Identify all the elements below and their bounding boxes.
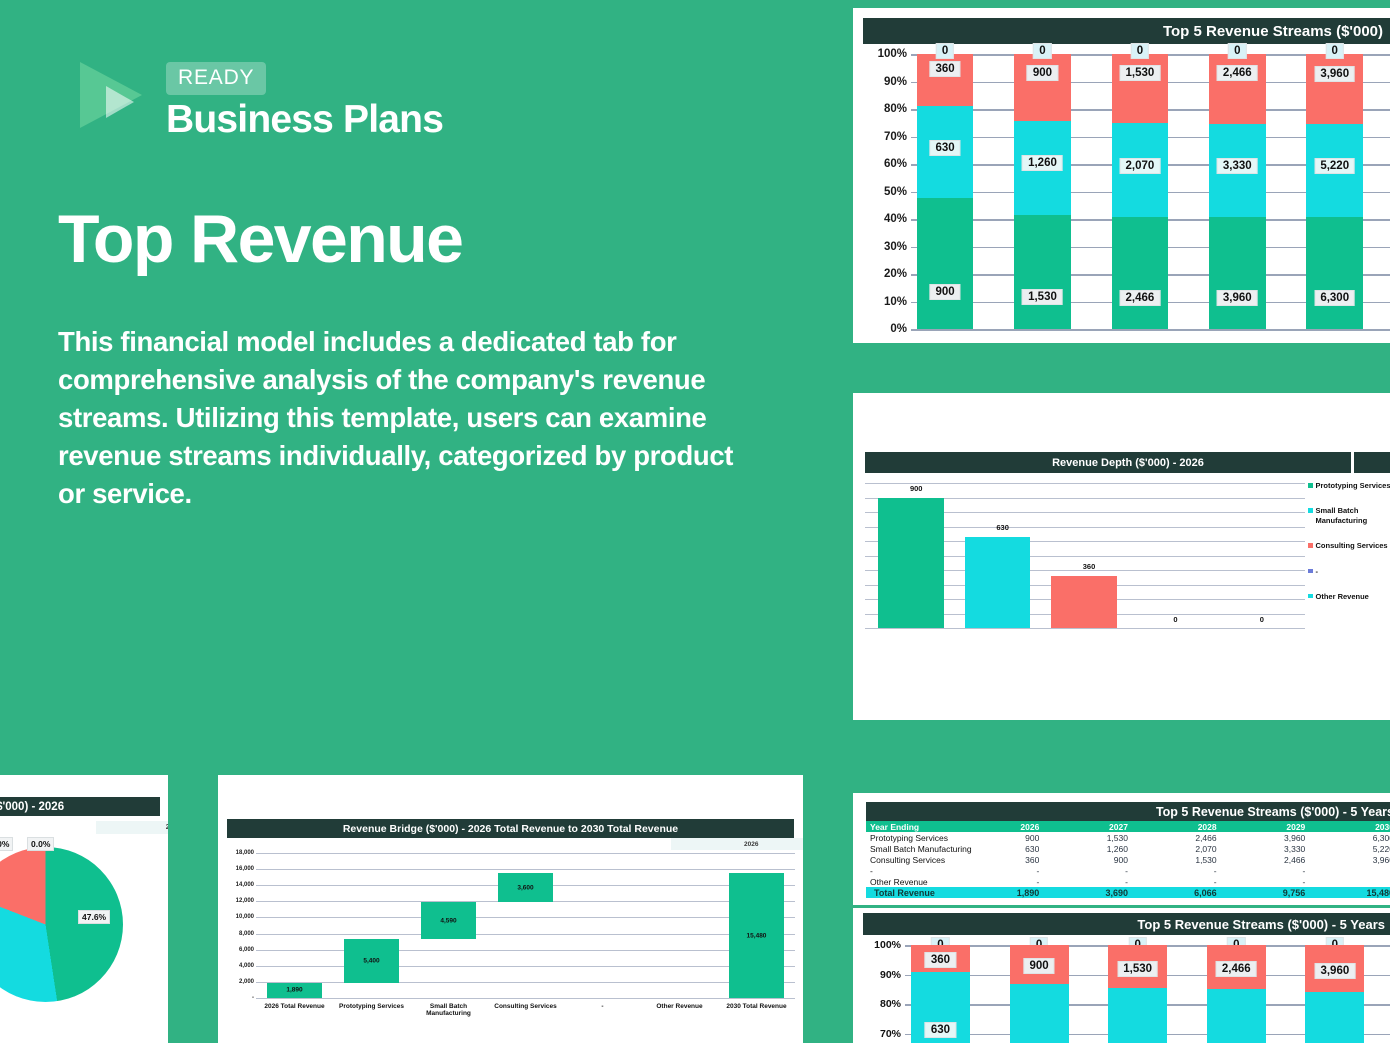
segment-prototyping-services-2029: 3,960: [1209, 217, 1265, 329]
ready-badge: READY: [166, 62, 266, 95]
table-card-top5-5yr: Top 5 Revenue Streams ($'000) - 5 Years …: [853, 793, 1390, 905]
chart-card-revenue-depth: Revenue Depth ($'000) - 2026 90063036000…: [853, 393, 1390, 720]
bridge-y-tick-8: 2,000: [239, 979, 254, 985]
st-y-tick-80pct: 80%: [880, 998, 901, 1010]
depth-slot-4: 0: [1219, 483, 1305, 628]
y-tick-0pct: 0%: [890, 323, 907, 335]
table-title-top5-5yr: Top 5 Revenue Streams ($'000) - 5 Years: [866, 802, 1390, 821]
y-axis-revenue-bridge: 18,00016,00014,00012,00010,0008,0006,000…: [226, 853, 256, 998]
table-cell-2-2: 1,530: [1132, 854, 1221, 865]
segment-prototyping-services-2027: 1,530: [1014, 215, 1070, 329]
bridge-x-label-4: -: [564, 1003, 641, 1017]
table-cell-1-2: 2,070: [1132, 843, 1221, 854]
legend-label-2: Consulting Services: [1316, 541, 1388, 551]
data-label-consulting-services-2028: 1,530: [1117, 961, 1158, 977]
data-label-consulting-services-2027: 900: [1023, 958, 1054, 974]
bridge-y-tick-6: 6,000: [239, 947, 254, 953]
table-total-4: 15,480: [1309, 887, 1390, 898]
data-label-consulting-services-2026: 360: [929, 61, 960, 77]
legend-swatch-2: [1308, 543, 1313, 548]
play-triangle-logo-icon: [72, 56, 150, 134]
st-y-tick-90pct: 90%: [880, 969, 901, 981]
y-axis-top5-stacked-5yr: 100%90%80%70%: [863, 941, 905, 1043]
segment-small-batch-manufacturing-2027: [1010, 984, 1069, 1043]
bridge-bar-2030-total-revenue: 15,480: [729, 873, 784, 998]
legend-revenue-depth: Prototyping ServicesSmall Batch Manufact…: [1308, 481, 1390, 617]
brand-lockup: READY Business Plans: [72, 56, 443, 141]
depth-value-3: 0: [1173, 615, 1177, 624]
table-total-3: 9,756: [1221, 887, 1310, 898]
y-axis-top5-stacked-pct: 100%90%80%70%60%50%40%30%20%10%0%: [863, 54, 911, 329]
pie-label-prototyping: 47.6%: [78, 910, 110, 924]
bar-slot-2029: 3,9603,3302,4660: [1203, 54, 1300, 329]
st-column-2028: 01,530: [1108, 941, 1167, 1043]
table-total-1: 3,690: [1043, 887, 1132, 898]
y-tick-70pct: 70%: [884, 131, 907, 143]
data-label-consulting-services-2027: 900: [1027, 65, 1058, 81]
data-label-consulting-services-2030: 3,960: [1314, 66, 1355, 82]
legend-item-1: Small Batch Manufacturing: [1308, 506, 1390, 526]
depth-bar-small-batch-manufacturing: [965, 537, 1031, 628]
table-cell-label-4: Other Revenue: [866, 876, 955, 887]
x-axis-labels-revenue-bridge: 2026 Total RevenuePrototyping ServicesSm…: [256, 1003, 795, 1017]
legend-item-4: Other Revenue: [1308, 592, 1390, 602]
table-col-header-year-ending: Year Ending: [866, 821, 955, 832]
depth-value-4: 0: [1260, 615, 1264, 624]
legend-label-1: Small Batch Manufacturing: [1316, 506, 1390, 526]
bridge-y-tick-1: 16,000: [236, 866, 254, 872]
legend-item-0: Prototyping Services: [1308, 481, 1390, 491]
data-label-other-revenue-2026: 0: [936, 43, 954, 59]
legend-swatch-3: [1308, 569, 1313, 574]
table-cell-0-1: 1,530: [1043, 832, 1132, 843]
y-tick-50pct: 50%: [884, 186, 907, 198]
bridge-y-tick-9: -: [252, 995, 254, 1001]
legend-swatch-1: [1308, 508, 1313, 513]
table-cell-3-3: -: [1221, 865, 1310, 876]
brand-name: Business Plans: [166, 100, 443, 141]
table-row: ------: [866, 865, 1390, 876]
bridge-value-2: 4,590: [440, 917, 456, 924]
depth-bar-consulting-services: [1051, 576, 1117, 628]
bridge-slot-3: 3,600: [487, 853, 564, 998]
bridge-x-label-3: Consulting Services: [487, 1003, 564, 1017]
legend-item-3: -: [1308, 567, 1390, 577]
bridge-x-label-5: Other Revenue: [641, 1003, 718, 1017]
table-row: Other Revenue-----: [866, 876, 1390, 887]
chart-title-top5-stacked-pct: Top 5 Revenue Streams ($'000): [863, 18, 1390, 44]
plot-area-top5-stacked-5yr: 100%90%80%70% 0630360090001,53002,46603,…: [863, 941, 1390, 1043]
bridge-y-tick-4: 10,000: [236, 914, 254, 920]
y-tick-20pct: 20%: [884, 268, 907, 280]
bar-column-2029: 3,9603,3302,4660: [1209, 54, 1265, 329]
bar-column-2028: 2,4662,0701,5300: [1112, 54, 1168, 329]
data-label-consulting-services-2030: 3,960: [1314, 963, 1355, 979]
table-cell-label-3: -: [866, 865, 955, 876]
chart-title-revenue-depth: Revenue Depth ($'000) - 2026: [865, 452, 1390, 473]
bars-top5-stacked-pct: 90063036001,5301,26090002,4662,0701,5300…: [911, 54, 1390, 329]
chart-title-run-rate-pie: Run-Rate ($'000) - 2026: [0, 797, 160, 816]
table-cell-1-4: 5,220: [1309, 843, 1390, 854]
table-cell-label-1: Small Batch Manufacturing: [866, 843, 955, 854]
bar-slot-2026: 9006303600: [911, 54, 1008, 329]
st-slot-2027: 0900: [1004, 941, 1103, 1043]
segment-small-batch-manufacturing-2030: [1305, 992, 1364, 1043]
chart-title-revenue-bridge: Revenue Bridge ($'000) - 2026 Total Reve…: [227, 819, 794, 838]
data-label-prototyping-services-2026: 900: [929, 284, 960, 300]
y-tick-30pct: 30%: [884, 241, 907, 253]
st-y-tick-70pct: 70%: [880, 1028, 901, 1040]
chart-card-top5-stacked-pct: Top 5 Revenue Streams ($'000) 100%90%80%…: [853, 8, 1390, 343]
table-col-header-2026: 2026: [955, 821, 1044, 832]
data-label-consulting-services-2029: 2,466: [1216, 961, 1257, 977]
segment-consulting-services-2029: 2,466: [1209, 54, 1265, 124]
table-cell-3-4: -: [1309, 865, 1390, 876]
segment-consulting-services-2027: 900: [1010, 945, 1069, 984]
chart-card-revenue-bridge: Revenue Bridge ($'000) - 2026 Total Reve…: [218, 775, 803, 1043]
segment-prototyping-services-2030: 6,300: [1306, 217, 1362, 329]
y-tick-100pct: 100%: [878, 48, 907, 60]
st-column-2026: 0630360: [911, 941, 970, 1043]
depth-slot-2: 360: [1046, 483, 1132, 628]
segment-consulting-services-2028: 1,530: [1112, 54, 1168, 123]
pie-disc: [0, 847, 123, 1002]
title-bar-split: [1351, 452, 1390, 473]
y-tick-40pct: 40%: [884, 213, 907, 225]
legend-swatch-4: [1308, 594, 1313, 599]
bar-slot-2028: 2,4662,0701,5300: [1106, 54, 1203, 329]
plot-area-revenue-depth: 90063036000: [865, 483, 1305, 628]
data-label-small-batch-manufacturing-2029: 3,330: [1217, 158, 1258, 174]
data-label-prototyping-services-2027: 1,530: [1022, 289, 1063, 305]
bridge-x-label-2: Small Batch Manufacturing: [410, 1003, 487, 1017]
data-label-consulting-services-2026: 360: [925, 952, 956, 968]
table-cell-label-2: Consulting Services: [866, 854, 955, 865]
pie-label-dash: 0.0%: [0, 837, 13, 851]
table-cell-0-3: 3,960: [1221, 832, 1310, 843]
table-body: Prototyping Services9001,5302,4663,9606,…: [866, 832, 1390, 887]
segment-small-batch-manufacturing-2027: 1,260: [1014, 121, 1070, 215]
table-cell-3-0: -: [955, 865, 1044, 876]
data-label-small-batch-manufacturing-2027: 1,260: [1022, 155, 1063, 171]
table-cell-4-3: -: [1221, 876, 1310, 887]
bridge-year-tabs: 20262030: [671, 838, 803, 850]
table-total-label: Total Revenue: [866, 887, 955, 898]
bar-column-2026: 9006303600: [917, 54, 973, 329]
segment-consulting-services-2030: 3,960: [1305, 945, 1364, 992]
segment-consulting-services-2029: 2,466: [1207, 945, 1266, 989]
table-total-row: Total Revenue1,8903,6906,0669,75615,480: [866, 887, 1390, 898]
table-row: Small Batch Manufacturing6301,2602,0703,…: [866, 843, 1390, 854]
segment-small-batch-manufacturing-2026: 630: [917, 106, 973, 198]
table-row: Consulting Services3609001,5302,4663,960: [866, 854, 1390, 865]
data-label-other-revenue-2027: 0: [1033, 43, 1051, 59]
table-cell-3-1: -: [1043, 865, 1132, 876]
bar-slot-2030: 6,3005,2203,9600: [1301, 54, 1390, 329]
st-column-2030: 03,960: [1305, 941, 1364, 1043]
data-label-prototyping-services-2029: 3,960: [1217, 290, 1258, 306]
segment-consulting-services-2026: 360: [917, 54, 973, 106]
gridline: [911, 329, 1390, 331]
y-tick-60pct: 60%: [884, 158, 907, 170]
gridline: [865, 628, 1305, 629]
segment-prototyping-services-2028: 2,466: [1112, 217, 1168, 329]
table-cell-4-1: -: [1043, 876, 1132, 887]
y-tick-80pct: 80%: [884, 103, 907, 115]
data-label-small-batch-manufacturing-2026: 630: [925, 1022, 956, 1038]
table-cell-4-2: -: [1132, 876, 1221, 887]
st-column-2027: 0900: [1010, 941, 1069, 1043]
table-col-header-2030: 2030: [1309, 821, 1390, 832]
data-label-small-batch-manufacturing-2026: 630: [929, 140, 960, 156]
bridge-y-tick-5: 8,000: [239, 931, 254, 937]
bridge-slot-4: [564, 853, 641, 998]
table-cell-2-3: 2,466: [1221, 854, 1310, 865]
data-label-prototyping-services-2030: 6,300: [1314, 290, 1355, 306]
bridge-year-tab-2026: 2026: [671, 838, 803, 850]
st-slot-2026: 0630360: [905, 941, 1004, 1043]
y-tick-10pct: 10%: [884, 296, 907, 308]
bar-column-2030: 6,3005,2203,9600: [1306, 54, 1362, 329]
table-header-row: Year Ending20262027202820292030: [866, 821, 1390, 832]
bridge-bar-small-batch-manufacturing: 4,590: [421, 902, 476, 939]
depth-value-2: 360: [1083, 562, 1096, 571]
st-slot-2028: 01,530: [1102, 941, 1201, 1043]
depth-bar-prototyping-services: [878, 498, 944, 629]
bridge-value-3: 3,600: [517, 884, 533, 891]
gridline: [256, 998, 795, 999]
legend-item-2: Consulting Services: [1308, 541, 1390, 551]
legend-label-0: Prototyping Services: [1316, 481, 1390, 491]
depth-value-1: 630: [996, 523, 1009, 532]
data-label-consulting-services-2028: 1,530: [1120, 65, 1161, 81]
bridge-x-label-6: 2030 Total Revenue: [718, 1003, 795, 1017]
data-label-small-batch-manufacturing-2030: 5,220: [1314, 158, 1355, 174]
segment-small-batch-manufacturing-2029: 3,330: [1209, 124, 1265, 218]
chart-card-top5-stacked-5yr: Top 5 Revenue Streams ($'000) - 5 Years …: [853, 908, 1390, 1043]
bars-revenue-bridge: 1,8905,4004,5903,60015,480: [256, 853, 795, 998]
segment-small-batch-manufacturing-2028: 2,070: [1112, 123, 1168, 217]
bridge-y-tick-7: 4,000: [239, 963, 254, 969]
hero-panel: READY Business Plans Top Revenue This fi…: [0, 0, 800, 780]
segment-consulting-services-2030: 3,960: [1306, 54, 1362, 124]
segment-small-batch-manufacturing-2026: 630: [911, 972, 970, 1043]
bridge-bar-consulting-services: 3,600: [498, 873, 553, 902]
segment-small-batch-manufacturing-2029: [1207, 989, 1266, 1043]
chart-title-top5-stacked-5yr: Top 5 Revenue Streams ($'000) - 5 Years: [863, 913, 1390, 935]
bridge-y-tick-0: 18,000: [236, 850, 254, 856]
depth-slot-1: 630: [959, 483, 1045, 628]
depth-slot-3: 0: [1132, 483, 1218, 628]
bridge-slot-5: [641, 853, 718, 998]
pie-label-other-revenue: 0.0%: [27, 837, 54, 851]
table-col-header-2028: 2028: [1132, 821, 1221, 832]
table-col-header-2029: 2029: [1221, 821, 1310, 832]
bridge-bar-2026-total-revenue: 1,890: [267, 983, 322, 998]
table-cell-label-0: Prototyping Services: [866, 832, 955, 843]
bars-top5-stacked-5yr: 0630360090001,53002,46603,960: [905, 941, 1390, 1043]
bars-revenue-depth: 90063036000: [873, 483, 1305, 628]
table-cell-0-4: 6,300: [1309, 832, 1390, 843]
pie-year-tab: 2026: [96, 821, 168, 834]
table-col-header-2027: 2027: [1043, 821, 1132, 832]
table-cell-2-1: 900: [1043, 854, 1132, 865]
plot-area-revenue-bridge: 18,00016,00014,00012,00010,0008,0006,000…: [226, 853, 795, 998]
table-cell-4-0: -: [955, 876, 1044, 887]
table-cell-3-2: -: [1132, 865, 1221, 876]
page-title: Top Revenue: [58, 205, 462, 273]
plot-area-top5-stacked-pct: 100%90%80%70%60%50%40%30%20%10%0% 900630…: [863, 54, 1390, 329]
bridge-y-tick-3: 12,000: [236, 898, 254, 904]
bridge-slot-0: 1,890: [256, 853, 333, 998]
table-cell-1-3: 3,330: [1221, 843, 1310, 854]
page-description: This financial model includes a dedicate…: [58, 323, 758, 513]
segment-consulting-services-2027: 900: [1014, 54, 1070, 121]
segment-consulting-services-2026: 360: [911, 945, 970, 972]
bridge-bar-prototyping-services: 5,400: [344, 939, 399, 983]
st-slot-2029: 02,466: [1201, 941, 1300, 1043]
bridge-value-0: 1,890: [286, 987, 302, 994]
bridge-value-6: 15,480: [747, 932, 767, 939]
table-cell-1-1: 1,260: [1043, 843, 1132, 854]
table-cell-0-0: 900: [955, 832, 1044, 843]
bridge-slot-6: 15,480: [718, 853, 795, 998]
chart-title-revenue-depth-text: Revenue Depth ($'000) - 2026: [1052, 457, 1204, 469]
data-label-other-revenue-2030: 0: [1326, 43, 1344, 59]
data-label-other-revenue-2028: 0: [1131, 43, 1149, 59]
legend-swatch-0: [1308, 483, 1313, 488]
plot-area-run-rate-pie: 47.6% 33.3% 19.0% 0.0% 0.0%: [0, 847, 158, 1037]
bridge-value-1: 5,400: [363, 958, 379, 965]
bridge-x-label-1: Prototyping Services: [333, 1003, 410, 1017]
depth-slot-0: 900: [873, 483, 959, 628]
legend-label-3: -: [1316, 567, 1319, 577]
table-cell-2-4: 3,960: [1309, 854, 1390, 865]
bridge-slot-2: 4,590: [410, 853, 487, 998]
segment-consulting-services-2028: 1,530: [1108, 945, 1167, 988]
table-cell-0-2: 2,466: [1132, 832, 1221, 843]
data-label-prototyping-services-2028: 2,466: [1120, 290, 1161, 306]
bridge-slot-1: 5,400: [333, 853, 410, 998]
data-label-consulting-services-2029: 2,466: [1217, 65, 1258, 81]
st-slot-2030: 03,960: [1299, 941, 1390, 1043]
bridge-x-label-0: 2026 Total Revenue: [256, 1003, 333, 1017]
segment-small-batch-manufacturing-2030: 5,220: [1306, 124, 1362, 217]
chart-card-revenue-run-rate-pie: Run-Rate ($'000) - 2026 2026 47.6% 33.3%…: [0, 775, 168, 1043]
table-total-0: 1,890: [955, 887, 1044, 898]
bar-slot-2027: 1,5301,2609000: [1008, 54, 1105, 329]
data-label-small-batch-manufacturing-2028: 2,070: [1120, 158, 1161, 174]
bar-column-2027: 1,5301,2609000: [1014, 54, 1070, 329]
table-cell-2-0: 360: [955, 854, 1044, 865]
depth-value-0: 900: [910, 484, 923, 493]
bridge-y-tick-2: 14,000: [236, 882, 254, 888]
st-column-2029: 02,466: [1207, 941, 1266, 1043]
st-y-tick-100pct: 100%: [874, 939, 901, 951]
y-tick-90pct: 90%: [884, 76, 907, 88]
revenue-streams-table: Year Ending20262027202820292030 Prototyp…: [866, 821, 1390, 898]
data-label-other-revenue-2029: 0: [1228, 43, 1246, 59]
legend-label-4: Other Revenue: [1316, 592, 1369, 602]
segment-small-batch-manufacturing-2028: [1108, 988, 1167, 1043]
table-row: Prototyping Services9001,5302,4663,9606,…: [866, 832, 1390, 843]
table-cell-4-4: -: [1309, 876, 1390, 887]
segment-prototyping-services-2026: 900: [917, 198, 973, 329]
table-total-2: 6,066: [1132, 887, 1221, 898]
